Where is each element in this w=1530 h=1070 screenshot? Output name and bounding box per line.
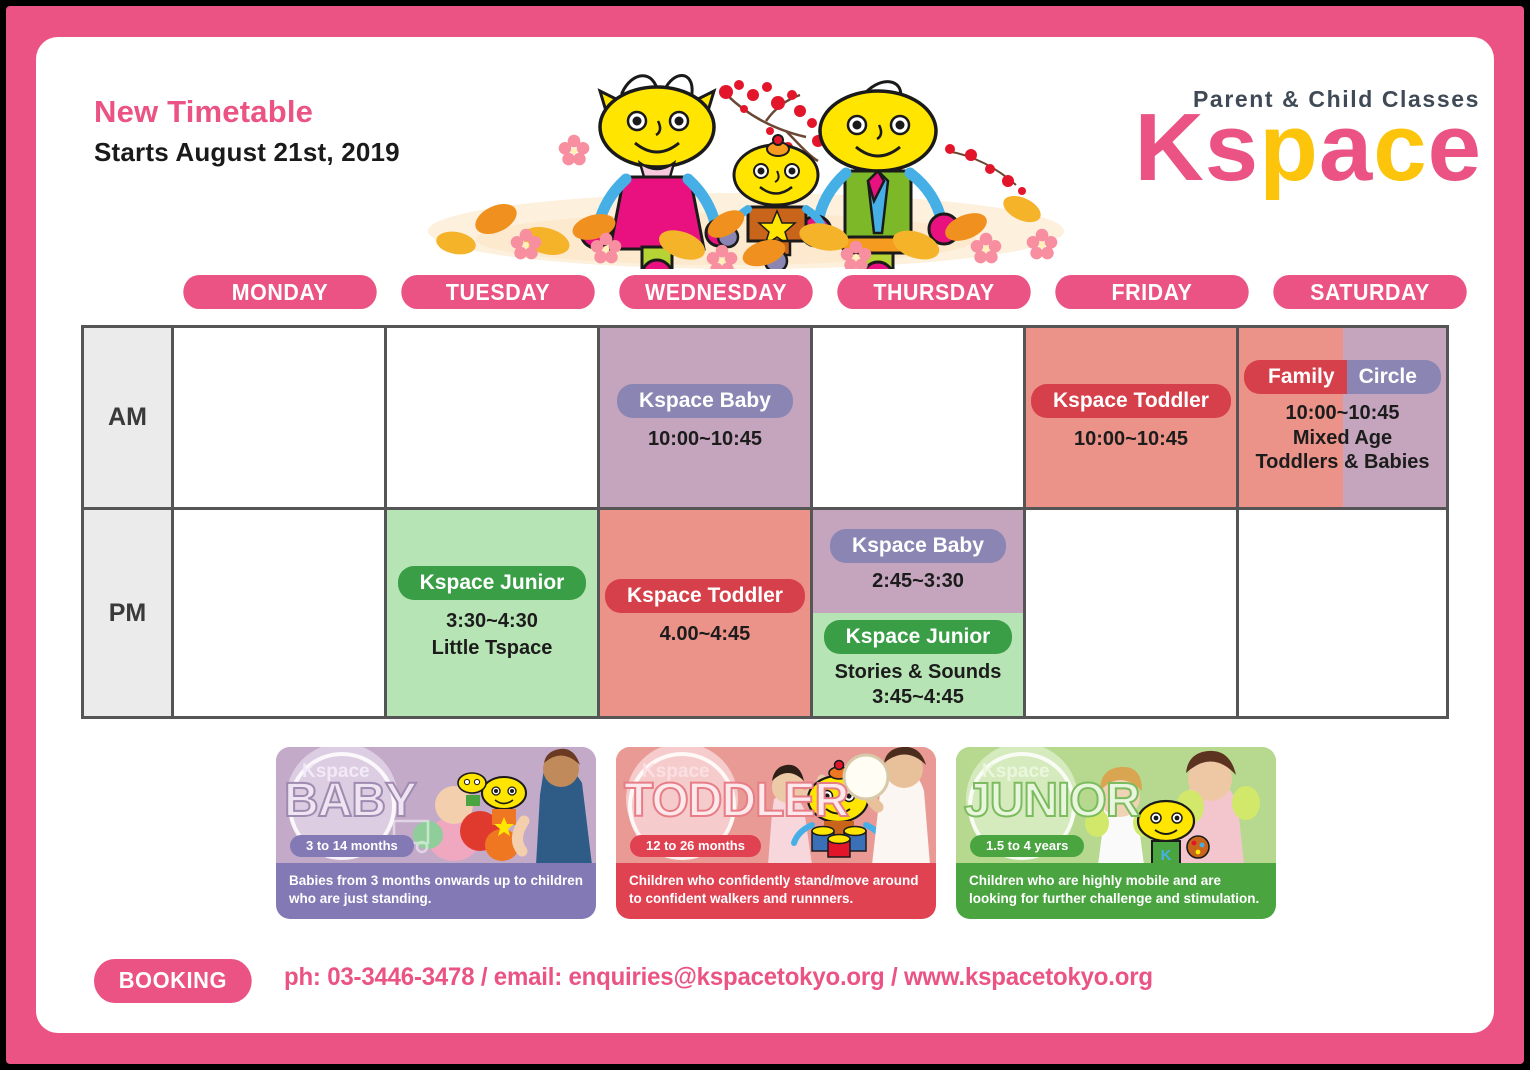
- day-header-saturday: SATURDAY: [1273, 275, 1466, 309]
- class-time: 10:00~10:45: [648, 427, 762, 451]
- cell-am-friday[interactable]: Kspace Toddler 10:00~10:45: [1026, 328, 1239, 510]
- cell-pm-tuesday[interactable]: Kspace Junior 3:30~4:30 Little Tspace: [387, 510, 600, 716]
- card-age-badge-baby: 3 to 14 months: [290, 835, 414, 857]
- poster-frame: New Timetable Starts August 21st, 2019: [6, 6, 1524, 1064]
- family-circle-right-label: Circle: [1347, 360, 1441, 394]
- program-cards: Kspace BABY 3 to 14 months Babies from 3…: [276, 747, 1276, 922]
- class-time: 3:45~4:45: [872, 685, 964, 709]
- kspace-logo: Parent & Child Classes Kspace: [1066, 82, 1486, 212]
- time-label-pm: PM: [84, 510, 174, 716]
- logo-letter-s: s: [1205, 94, 1259, 201]
- booking-badge: BOOKING: [94, 959, 252, 1003]
- class-pill-family-circle: Family Circle: [1244, 360, 1441, 394]
- class-pill-kspace-toddler: Kspace Toddler: [1031, 384, 1231, 418]
- day-header-row: MONDAY TUESDAY WEDNESDAY THURSDAY FRIDAY…: [36, 275, 1494, 317]
- class-note-stories-sounds: Stories & Sounds: [835, 660, 1002, 684]
- class-pill-kspace-baby: Kspace Baby: [617, 384, 793, 418]
- logo-letter-p: p: [1259, 94, 1319, 201]
- logo-letter-e: e: [1428, 94, 1482, 201]
- class-pill-kspace-junior: Kspace Junior: [824, 620, 1013, 654]
- class-time: 4.00~4:45: [660, 622, 751, 646]
- cell-am-thursday[interactable]: [813, 328, 1026, 510]
- cell-pm-wednesday[interactable]: Kspace Toddler 4.00~4:45: [600, 510, 813, 716]
- svg-text:K: K: [1161, 847, 1172, 864]
- cell-am-tuesday[interactable]: [387, 328, 600, 510]
- class-time: 3:30~4:30: [446, 609, 538, 633]
- logo-letter-c: c: [1373, 94, 1427, 201]
- cell-pm-friday[interactable]: [1026, 510, 1239, 716]
- family-circle-left-label: Family: [1244, 360, 1347, 394]
- day-header-monday: MONDAY: [183, 275, 376, 309]
- class-note-little-tspace: Little Tspace: [432, 636, 553, 660]
- card-description-junior: Children who are highly mobile and are l…: [956, 863, 1276, 919]
- card-name-baby: BABY: [284, 777, 416, 825]
- day-header-tuesday: TUESDAY: [401, 275, 594, 309]
- day-header-thursday: THURSDAY: [837, 275, 1030, 309]
- logo-letter-k: K: [1134, 94, 1204, 201]
- day-header-wednesday: WEDNESDAY: [619, 275, 812, 309]
- page-subtitle: Starts August 21st, 2019: [94, 137, 400, 168]
- page-title: New Timetable: [94, 94, 313, 130]
- cell-am-saturday[interactable]: Family Circle 10:00~10:45 Mixed Age Todd…: [1239, 328, 1446, 510]
- card-age-badge-toddler: 12 to 26 months: [630, 835, 761, 857]
- class-pill-kspace-junior: Kspace Junior: [398, 566, 587, 600]
- card-age-badge-junior: 1.5 to 4 years: [970, 835, 1084, 857]
- card-description-toddler: Children who confidently stand/move arou…: [616, 863, 936, 919]
- cell-pm-thursday[interactable]: Kspace Baby 2:45~3:30 Kspace Junior Stor…: [813, 510, 1026, 716]
- footer: BOOKING ph: 03-3446-3478 / email: enquir…: [36, 955, 1494, 1009]
- class-note-toddlers-babies: Toddlers & Babies: [1255, 450, 1429, 474]
- class-pill-kspace-toddler: Kspace Toddler: [605, 579, 805, 613]
- card-description-baby: Babies from 3 months onwards up to child…: [276, 863, 596, 919]
- timetable-grid: AM Kspace Baby 10:00~10:45 Kspace Toddle…: [81, 325, 1449, 719]
- header: New Timetable Starts August 21st, 2019: [36, 37, 1494, 269]
- class-time: 2:45~3:30: [872, 569, 964, 593]
- logo-wordmark: Kspace: [1134, 100, 1482, 196]
- class-pill-kspace-baby: Kspace Baby: [830, 529, 1006, 563]
- program-card-junior[interactable]: K Kspace JUNIOR 1.5 to 4 years Children …: [956, 747, 1276, 919]
- logo-letter-a: a: [1319, 94, 1373, 201]
- time-label-am: AM: [84, 328, 174, 510]
- class-note-mixed-age: Mixed Age: [1293, 426, 1392, 450]
- card-name-toddler: TODDLER: [624, 777, 848, 825]
- cell-pm-monday[interactable]: [174, 510, 387, 716]
- program-card-toddler[interactable]: Kspace TODDLER 12 to 26 months Children …: [616, 747, 936, 919]
- poster-panel: New Timetable Starts August 21st, 2019: [36, 37, 1494, 1033]
- mascot-illustration: [426, 59, 1066, 269]
- contact-info[interactable]: ph: 03-3446-3478 / email: enquiries@kspa…: [284, 963, 1153, 992]
- day-header-friday: FRIDAY: [1055, 275, 1248, 309]
- class-time: 10:00~10:45: [1286, 401, 1400, 425]
- program-card-baby[interactable]: Kspace BABY 3 to 14 months Babies from 3…: [276, 747, 596, 919]
- cell-am-monday[interactable]: [174, 328, 387, 510]
- class-time: 10:00~10:45: [1074, 427, 1188, 451]
- cell-pm-saturday[interactable]: [1239, 510, 1446, 716]
- card-name-junior: JUNIOR: [964, 777, 1139, 825]
- cell-am-wednesday[interactable]: Kspace Baby 10:00~10:45: [600, 328, 813, 510]
